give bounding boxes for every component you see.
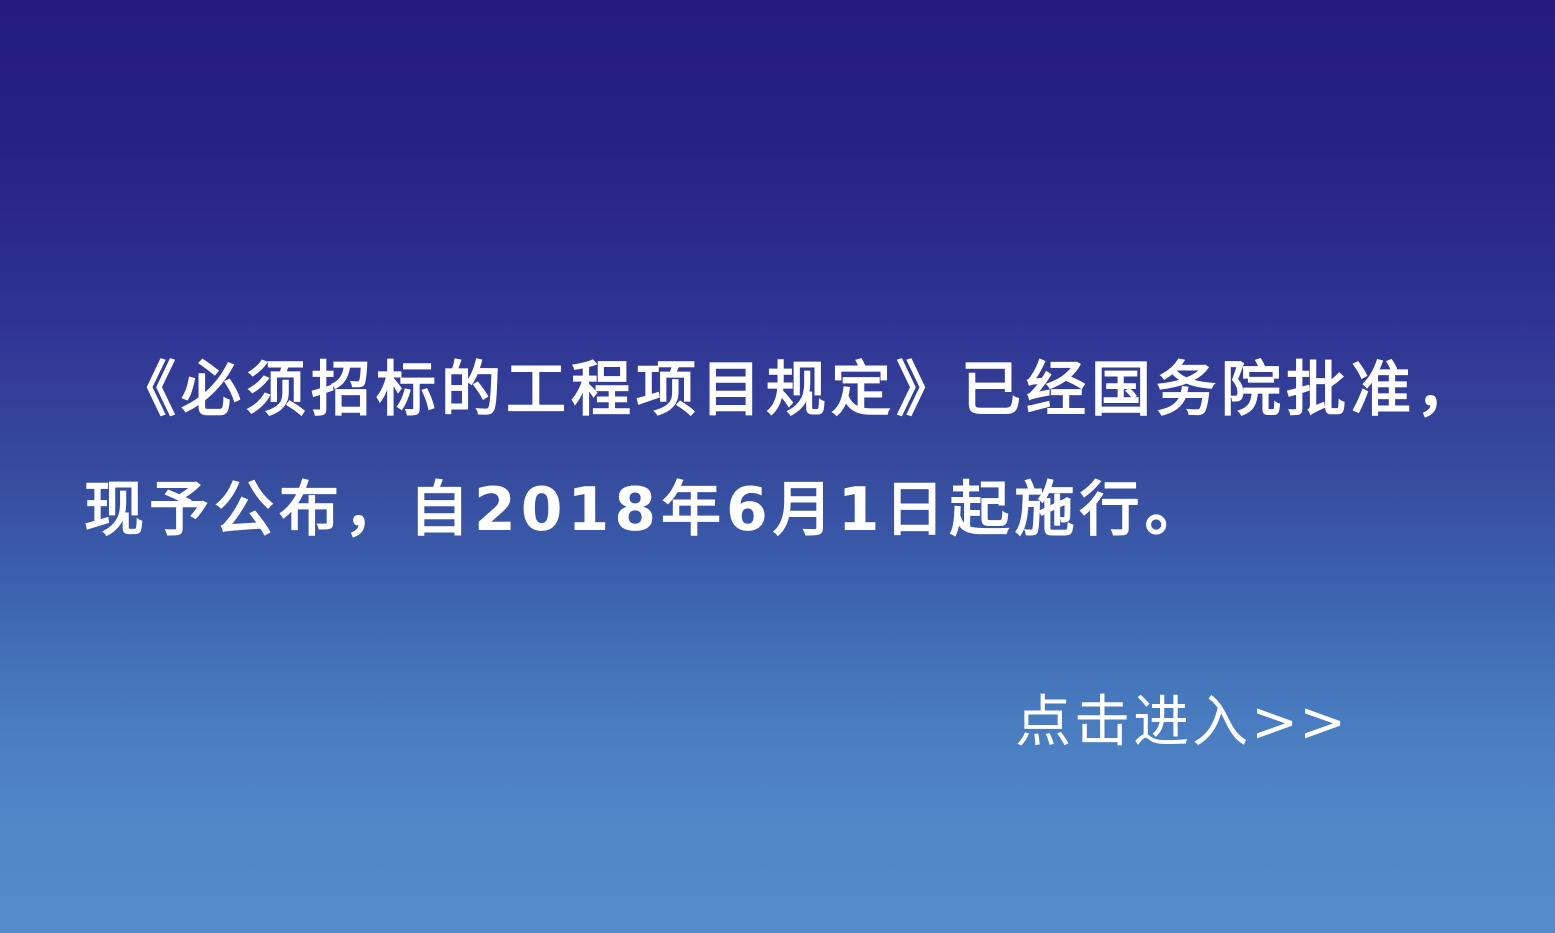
- double-chevron-right-icon: >>: [1251, 690, 1347, 755]
- notice-line-1: 《必须招标的工程项目规定》已经国务院批准，: [78, 330, 1477, 450]
- enter-link-label: 点击进入: [1015, 690, 1251, 755]
- notice-banner: 《必须招标的工程项目规定》已经国务院批准， 现予公布，自2018年6月1日起施行…: [0, 0, 1555, 933]
- notice-line-2: 现予公布，自2018年6月1日起施行。: [78, 450, 1477, 570]
- notice-text-block: 《必须招标的工程项目规定》已经国务院批准， 现予公布，自2018年6月1日起施行…: [0, 330, 1555, 570]
- banner-background: 《必须招标的工程项目规定》已经国务院批准， 现予公布，自2018年6月1日起施行…: [0, 0, 1555, 933]
- enter-link[interactable]: 点击进入>>: [1015, 686, 1347, 760]
- cta-row: 点击进入>>: [0, 686, 1555, 760]
